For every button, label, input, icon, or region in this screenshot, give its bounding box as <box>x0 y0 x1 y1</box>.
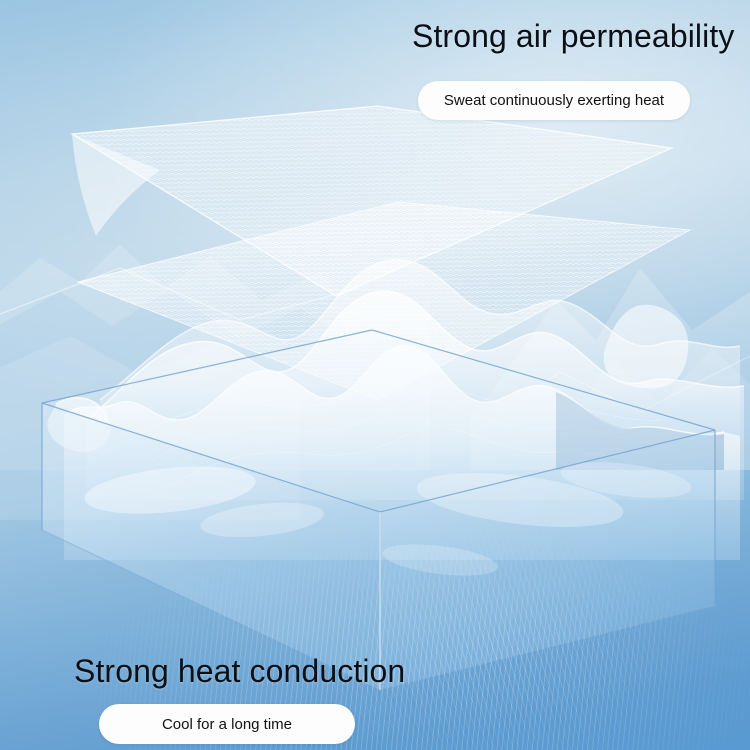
bottom-feature-pill-label: Cool for a long time <box>162 716 292 733</box>
bottom-feature-pill: Cool for a long time <box>99 704 355 744</box>
top-feature-pill: Sweat continuously exerting heat <box>418 81 690 120</box>
rippled-dune-texture-right <box>330 500 750 750</box>
product-infographic-canvas: Strong air permeability Sweat continuous… <box>0 0 750 750</box>
bottom-headline: Strong heat conduction <box>74 653 405 690</box>
top-headline: Strong air permeability <box>412 18 734 55</box>
top-feature-pill-label: Sweat continuously exerting heat <box>444 92 664 109</box>
